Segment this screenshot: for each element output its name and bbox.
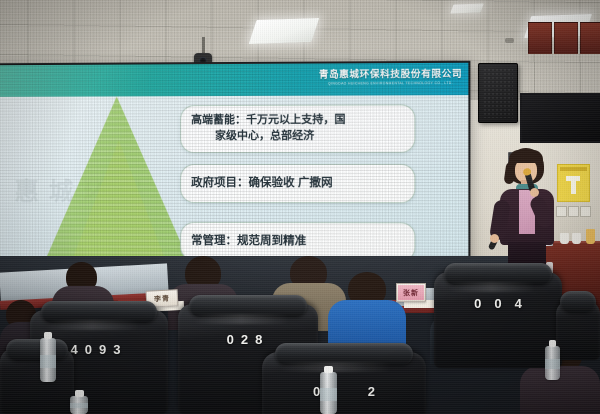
paper-cup — [572, 233, 581, 244]
wall-speaker-icon — [478, 63, 518, 123]
chair-sheen — [192, 314, 290, 324]
company-logo: 青岛惠城环保科技股份有限公司 QINGDAO HUICHENG ENVIRONM… — [319, 66, 462, 86]
water-bottle — [40, 338, 56, 382]
ceiling-light-panel — [450, 3, 484, 13]
chair-number: 004 — [434, 296, 562, 311]
chair-headrest — [560, 291, 597, 313]
cabinet-door[interactable] — [554, 22, 578, 54]
bottle-label — [320, 388, 337, 401]
company-name-en: QINGDAO HUICHENG ENVIRONMENTAL TECHNOLOG… — [319, 81, 462, 86]
water-bottle — [320, 372, 337, 414]
name-placard: 张新 — [396, 283, 426, 302]
company-name-cn: 青岛惠城环保科技股份有限公司 — [319, 66, 462, 81]
bottle-label — [40, 355, 56, 368]
chair-foreground-left — [0, 348, 74, 414]
attendee-body — [328, 300, 406, 348]
wall-mounted-tv — [520, 93, 600, 143]
chair-sheen — [278, 362, 393, 372]
presenter-left-hand — [490, 234, 499, 243]
bottle-label — [70, 403, 88, 408]
ceiling-sensor-icon — [505, 38, 514, 43]
bullet-2-line-1: 政府项目：确保验收 广撒网 — [191, 177, 332, 189]
presenter — [490, 148, 564, 273]
placard-text: 张新 — [397, 284, 425, 301]
chair-foreground-right — [556, 300, 600, 360]
ceiling-light-panel — [249, 18, 320, 44]
notice-header-band — [560, 167, 587, 171]
light-switch[interactable] — [568, 206, 579, 217]
bullet-1-line-2: 家级中心，总部经济 — [191, 129, 404, 145]
bullet-1-line-1: 高端蓄能：千万元以上支持，国 — [191, 114, 345, 126]
chair-headrest — [6, 339, 68, 361]
chair-004: 004 — [434, 272, 562, 368]
presenter-fringe — [509, 150, 543, 163]
presenter-right-hand — [530, 188, 539, 197]
water-bottle — [545, 346, 560, 380]
slide-bullet-2: 政府项目：确保验收 广撒网 — [180, 164, 415, 203]
attendee — [328, 272, 406, 344]
chair-sheen — [44, 320, 141, 330]
light-switch[interactable] — [580, 206, 591, 217]
slide-bullet-1: 高端蓄能：千万元以上支持，国 家级中心，总部经济 — [180, 104, 415, 153]
bottle-label — [545, 359, 560, 369]
cabinet-door[interactable] — [580, 22, 600, 54]
water-bottle — [70, 396, 88, 414]
meeting-room-photo: 年各项工作完成情况（结合能力与作风） 青岛惠城环保科技股份有限公司 QINGDA… — [0, 0, 600, 414]
bullet-3-line-1: 常管理：规范周到精准 — [191, 235, 306, 247]
chair-sheen — [447, 282, 537, 292]
chair-number: 0 2 — [262, 384, 426, 399]
cabinet-door[interactable] — [528, 22, 552, 54]
chair-02: 0 2 — [262, 352, 426, 414]
tea-box — [586, 229, 595, 244]
notice-icon — [566, 176, 580, 194]
attendee-body — [520, 366, 600, 414]
